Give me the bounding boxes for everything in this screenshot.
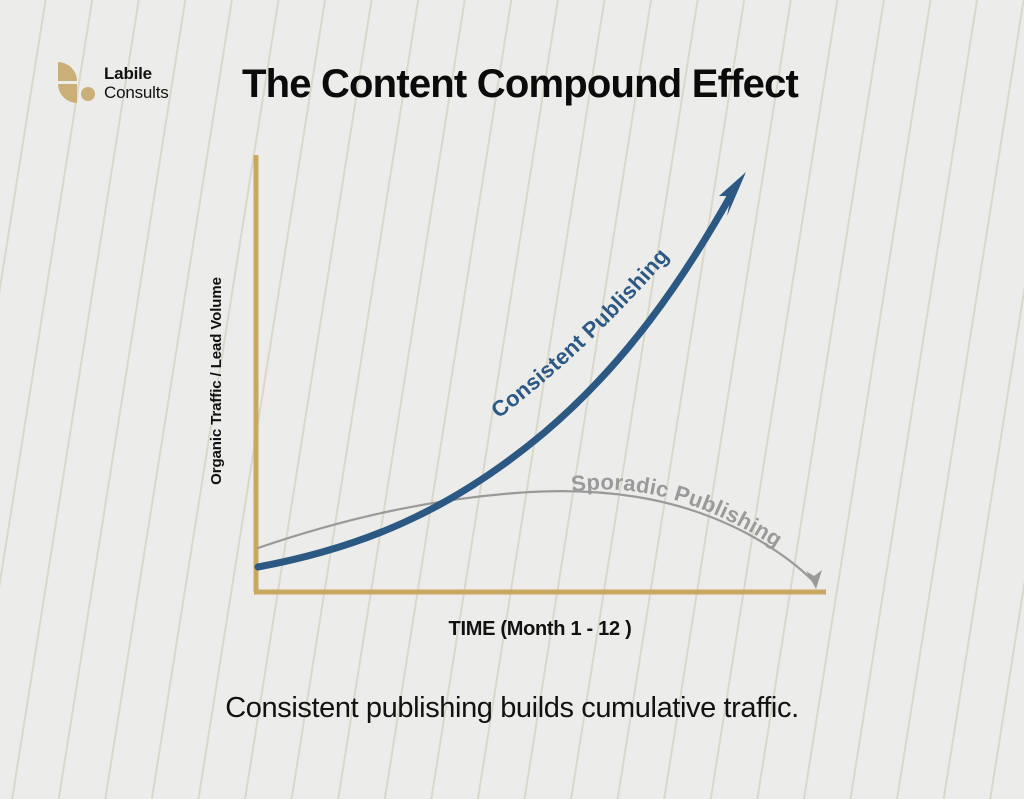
infographic-frame: Labile Consults The Content Compound Eff… bbox=[0, 0, 1024, 799]
series-label-sporadic-publishing-text: Sporadic Publishing bbox=[570, 469, 787, 552]
series-label-sporadic-publishing: Sporadic Publishing bbox=[570, 469, 787, 552]
caption-text: Consistent publishing builds cumulative … bbox=[0, 692, 1024, 725]
series-consistent-publishing bbox=[258, 172, 746, 567]
chart-container: Consistent Publishing Sporadic Publishin… bbox=[0, 0, 1024, 799]
x-axis-title: TIME (Month 1 - 12 ) bbox=[255, 618, 825, 641]
chart-svg: Consistent Publishing Sporadic Publishin… bbox=[0, 0, 1024, 799]
y-axis-title: Organic Traffic / Lead Volume bbox=[208, 236, 225, 526]
sporadic-arrow-head-icon bbox=[806, 570, 822, 589]
